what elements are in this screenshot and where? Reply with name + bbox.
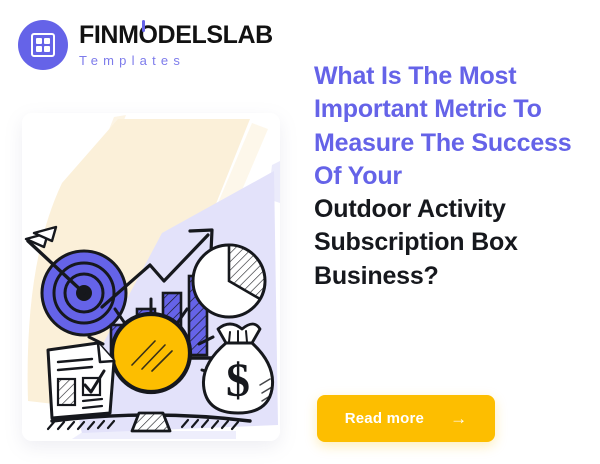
brand-wordmark: FINMODELSLAB Templates: [79, 23, 273, 67]
grid-cell: [36, 46, 42, 52]
promo-copy: What Is The Most Important Metric To Mea…: [314, 60, 582, 293]
page-subtitle: Outdoor Activity Subscription Box Busine…: [314, 193, 582, 293]
brand-logo[interactable]: FINMODELSLAB Templates: [18, 20, 273, 70]
arrow-right-icon: →: [450, 410, 467, 427]
grid-squares-icon: [31, 33, 55, 57]
page-title: What Is The Most Important Metric To Mea…: [314, 60, 582, 193]
business-metrics-illustration: $: [22, 113, 280, 441]
pie-chart-icon: [193, 245, 265, 317]
brand-tagline: Templates: [79, 54, 273, 67]
brand-name: FINMODELSLAB: [79, 23, 273, 48]
read-more-label: Read more: [345, 410, 424, 427]
checklist-document-icon: [48, 343, 114, 418]
grid-cell: [44, 46, 50, 52]
logo-mark-circle: [18, 20, 68, 70]
grid-cell: [36, 38, 42, 44]
svg-text:$: $: [226, 354, 250, 407]
idea-lightbulb-circle-icon: [112, 314, 190, 392]
read-more-button[interactable]: Read more →: [317, 395, 495, 442]
grid-cell: [44, 38, 50, 44]
promo-banner: FINMODELSLAB Templates: [0, 0, 600, 464]
brand-name-text: FINMODELSLAB: [79, 21, 273, 49]
power-accent-icon: [142, 20, 145, 32]
